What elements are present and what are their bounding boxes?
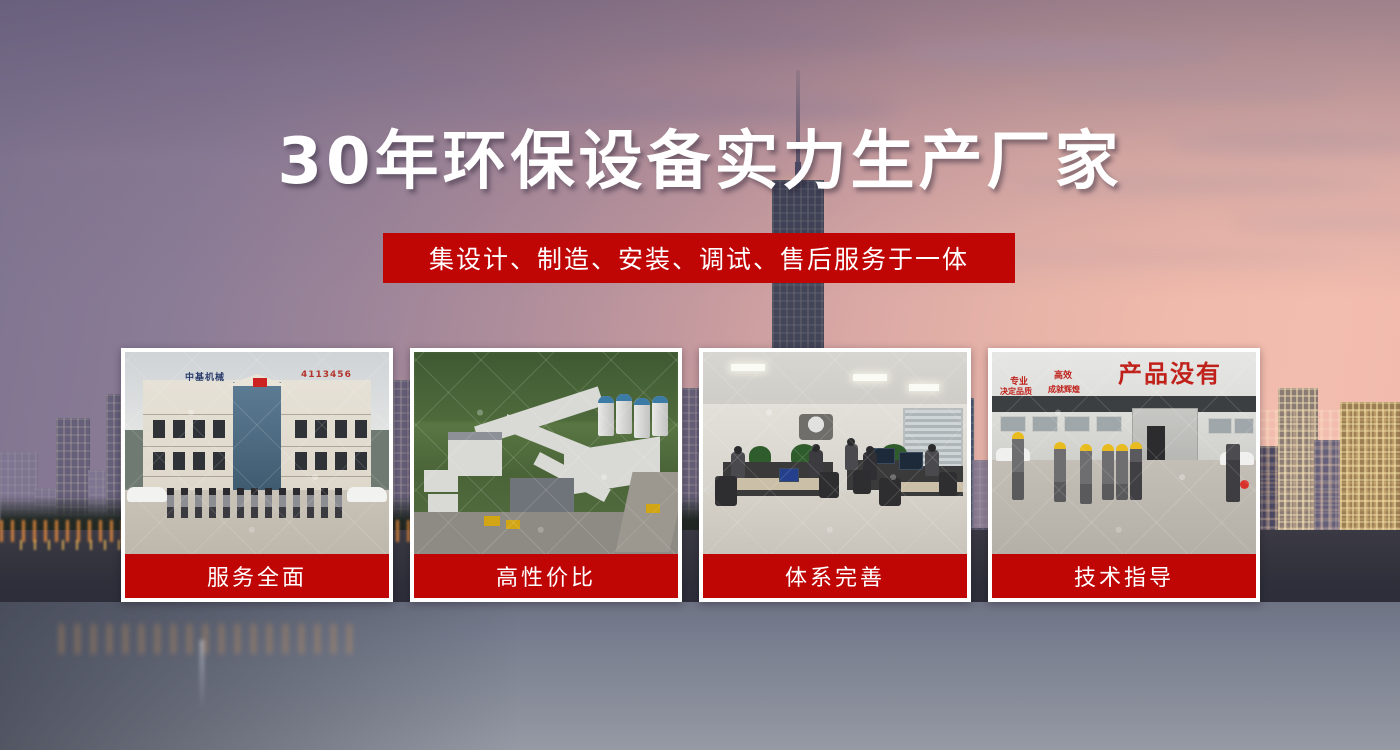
card-caption: 服务全面 — [125, 554, 389, 598]
hero-banner: 30年环保设备实力生产厂家 集设计、制造、安装、调试、售后服务于一体 — [0, 0, 1400, 750]
feature-card[interactable]: 体系完善 — [699, 348, 971, 602]
card-photo-workers-at-factory: 产品没有 专业 高效 决定品质 成就辉煌 — [992, 352, 1256, 554]
cloud-band — [900, 40, 1230, 66]
card-photo-headquarters: 中基机械 4113456 — [125, 352, 389, 554]
cloud-band — [1040, 78, 1340, 98]
subtitle-banner: 集设计、制造、安装、调试、售后服务于一体 — [383, 233, 1015, 283]
feature-card[interactable]: 产品没有 专业 高效 决定品质 成就辉煌 — [988, 348, 1260, 602]
cloud-band — [120, 68, 540, 90]
water-light-streak — [200, 640, 204, 710]
card-caption: 技术指导 — [992, 554, 1256, 598]
card-photo-industrial-plant — [414, 352, 678, 554]
feature-card-row: 中基机械 4113456 服务全面 — [121, 348, 1260, 602]
page-title: 30年环保设备实力生产厂家 — [0, 130, 1400, 194]
cloud-band — [380, 96, 900, 122]
cloud-band — [600, 28, 900, 48]
feature-card[interactable]: 中基机械 4113456 服务全面 — [121, 348, 393, 602]
subtitle-text: 集设计、制造、安装、调试、售后服务于一体 — [429, 240, 969, 276]
card-caption: 体系完善 — [703, 554, 967, 598]
card-caption: 高性价比 — [414, 554, 678, 598]
feature-card[interactable]: 高性价比 — [410, 348, 682, 602]
water-reflections — [60, 624, 360, 654]
card-photo-office-interior — [703, 352, 967, 554]
